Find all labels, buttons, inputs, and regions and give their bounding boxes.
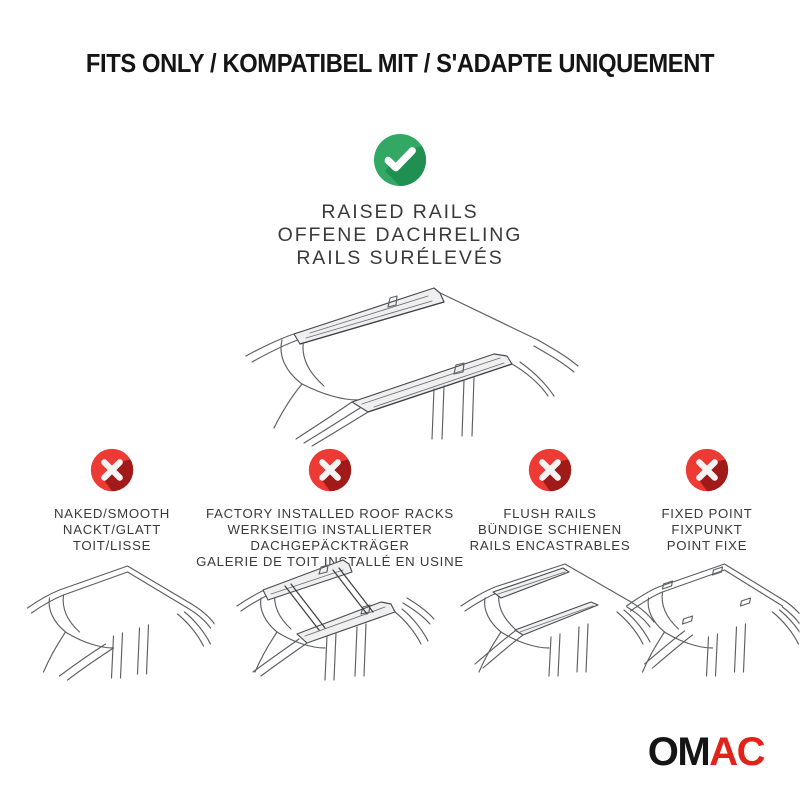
page-title: FITS ONLY / KOMPATIBEL MIT / S'ADAPTE UN… [28,50,772,79]
compatible-label-de: OFFENE DACHRELING [0,224,800,247]
incompat-icon-wrap-factory [196,448,464,500]
incompat-label-fixedpoint-en: FIXED POINT [628,506,786,522]
incompat-labels-naked: NAKED/SMOOTH NACKT/GLATT TOIT/LISSE [12,506,212,554]
title-bar: FITS ONLY / KOMPATIBEL MIT / S'ADAPTE UN… [0,50,800,79]
car-roof-raised-rails-illustration [182,276,622,448]
car-roof-fixed-point-illustration [615,548,800,683]
incompat-icon-wrap-naked [12,448,212,500]
incompat-label-naked-de: NACKT/GLATT [12,522,212,538]
incompatible-item-factory-racks: FACTORY INSTALLED ROOF RACKS WERKSEITIG … [196,448,464,570]
incompat-label-flush-de: BÜNDIGE SCHIENEN [452,522,648,538]
incompat-icon-wrap-fixedpoint [628,448,786,500]
x-circle-icon [308,448,352,492]
brand-logo: OMAC [648,732,764,772]
brand-logo-accent-text: AC [709,730,764,774]
x-circle-icon [528,448,572,492]
incompatible-item-fixed-point: FIXED POINT FIXPUNKT POINT FIXE [628,448,786,554]
incompatible-item-naked-smooth: NAKED/SMOOTH NACKT/GLATT TOIT/LISSE [12,448,212,554]
incompat-label-flush-en: FLUSH RAILS [452,506,648,522]
car-roof-factory-racks-illustration [215,536,445,687]
compatible-section: RAISED RAILS OFFENE DACHRELING RAILS SUR… [0,133,800,270]
incompat-labels-fixedpoint: FIXED POINT FIXPUNKT POINT FIXE [628,506,786,554]
compatible-label-fr: RAILS SURÉLEVÉS [0,247,800,270]
compatible-labels: RAISED RAILS OFFENE DACHRELING RAILS SUR… [0,201,800,270]
x-circle-icon [685,448,729,492]
incompat-icon-wrap-flush [452,448,648,500]
brand-logo-dark-text: OM [648,730,709,774]
incompat-label-fixedpoint-de: FIXPUNKT [628,522,786,538]
car-roof-naked-smooth-illustration [10,552,215,687]
incompat-label-factory-en: FACTORY INSTALLED ROOF RACKS [196,506,464,522]
x-circle-icon [90,448,134,492]
incompat-label-naked-en: NAKED/SMOOTH [12,506,212,522]
incompatible-item-flush-rails: FLUSH RAILS BÜNDIGE SCHIENEN RAILS ENCAS… [452,448,648,554]
compatible-label-en: RAISED RAILS [0,201,800,224]
check-circle-icon [373,133,427,187]
incompat-labels-flush: FLUSH RAILS BÜNDIGE SCHIENEN RAILS ENCAS… [452,506,648,554]
